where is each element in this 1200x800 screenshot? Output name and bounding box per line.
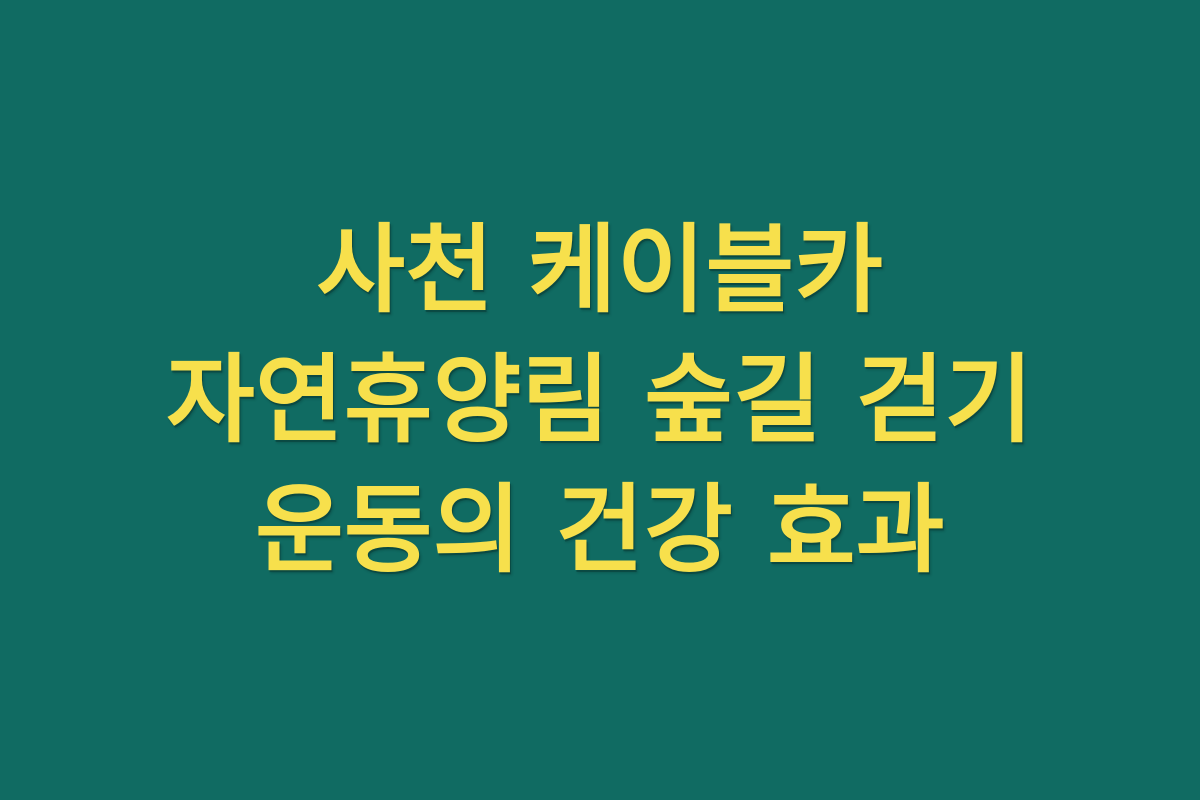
title-block: 사천 케이블카 자연휴양림 숲길 걷기 운동의 건강 효과 (95, 205, 1105, 595)
page-title: 사천 케이블카 자연휴양림 숲길 걷기 운동의 건강 효과 (105, 205, 1095, 595)
title-card: 사천 케이블카 자연휴양림 숲길 걷기 운동의 건강 효과 (0, 0, 1200, 800)
